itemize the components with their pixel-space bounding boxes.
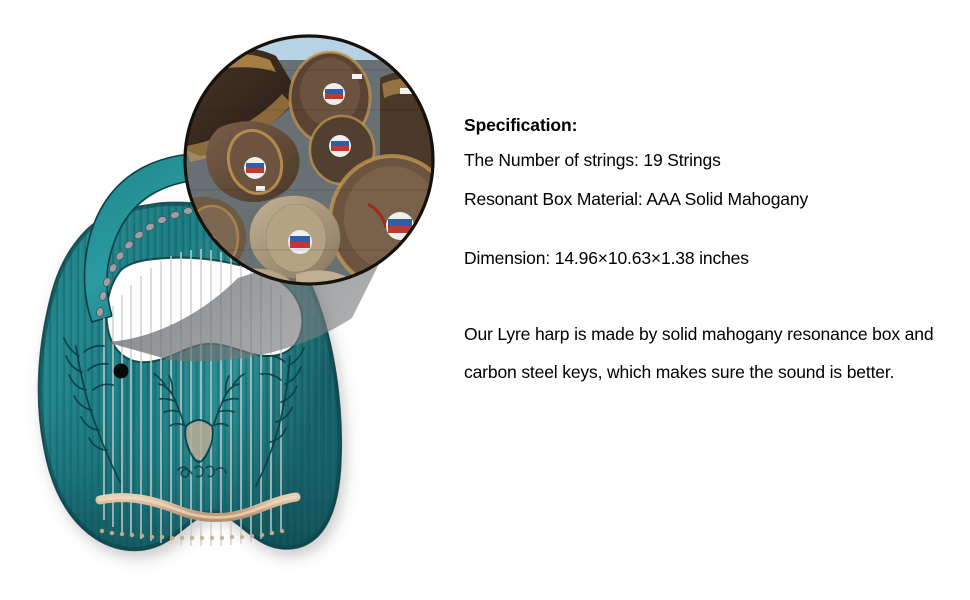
product-visual bbox=[0, 0, 460, 600]
magnifier-callout bbox=[0, 0, 460, 600]
spec-line-dimension: Dimension: 14.96×10.63×1.38 inches bbox=[464, 246, 960, 271]
spec-description: Our Lyre harp is made by solid mahogany … bbox=[464, 315, 950, 391]
spec-line-string-count: The Number of strings: 19 Strings bbox=[464, 148, 960, 173]
specification-panel: Specification: The Number of strings: 19… bbox=[464, 112, 960, 409]
magnifier-lens bbox=[185, 36, 454, 288]
product-banner: Specification: The Number of strings: 19… bbox=[0, 0, 970, 600]
spec-line-box-material: Resonant Box Material: AAA Solid Mahogan… bbox=[464, 187, 960, 212]
spec-heading: Specification: bbox=[464, 112, 960, 138]
